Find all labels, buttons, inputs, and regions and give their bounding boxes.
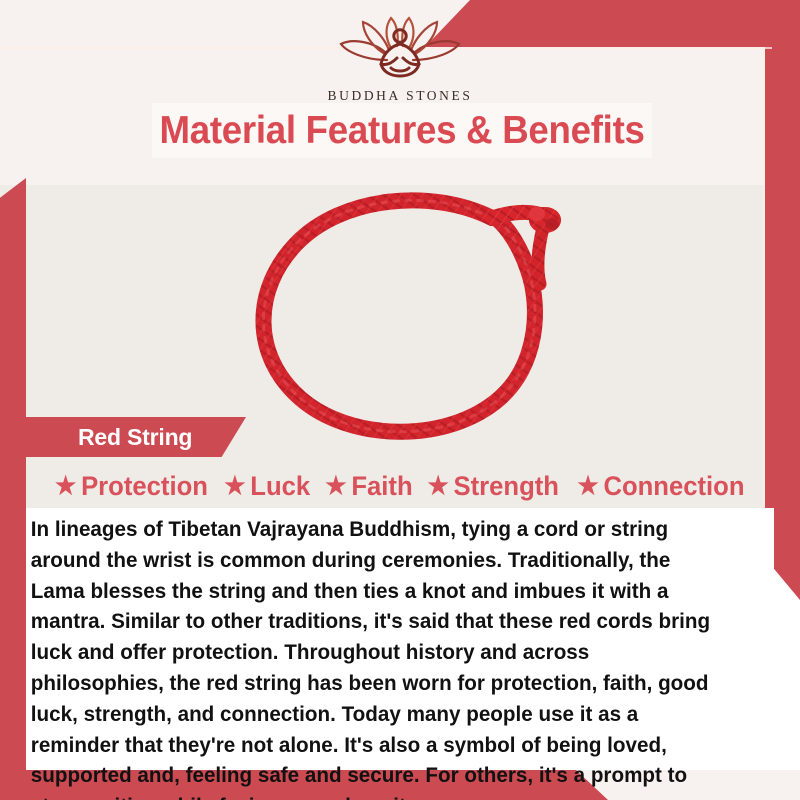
description-text: In lineages of Tibetan Vajrayana Buddhis… <box>26 508 744 800</box>
product-label-banner: Red String <box>24 417 246 457</box>
benefit-item-connection: ★ Connection <box>573 471 750 502</box>
decorative-bar-left <box>0 178 26 508</box>
decorative-bar-left-lower <box>0 508 26 770</box>
brand-name: BUDDHA STONES <box>0 88 800 104</box>
benefit-label: Faith <box>351 471 412 502</box>
product-image <box>200 160 620 460</box>
benefit-label: Luck <box>250 471 310 502</box>
benefit-item-faith: ★ Faith <box>320 471 417 502</box>
benefit-item-luck: ★ Luck <box>220 471 315 502</box>
star-icon: ★ <box>224 474 245 499</box>
star-icon: ★ <box>577 474 598 499</box>
benefit-label: Strength <box>454 471 559 502</box>
lotus-meditation-icon <box>325 14 475 86</box>
red-braided-string-bracelet-illustration <box>200 160 620 460</box>
infographic-card: BUDDHA STONES Material Features & Benefi… <box>0 0 800 800</box>
description-panel: In lineages of Tibetan Vajrayana Buddhis… <box>26 508 774 770</box>
star-icon: ★ <box>428 474 449 499</box>
page-title: Material Features & Benefits <box>159 109 644 153</box>
benefit-label: Connection <box>603 471 744 502</box>
benefit-item-strength: ★ Strength <box>423 471 564 502</box>
benefit-label: Protection <box>81 471 208 502</box>
benefits-list: ★ Protection ★ Luck ★ Faith ★ Strength ★… <box>0 466 800 506</box>
title-banner: Material Features & Benefits <box>152 103 652 158</box>
star-icon: ★ <box>55 474 76 499</box>
benefit-item-protection: ★ Protection <box>50 471 212 502</box>
product-label: Red String <box>78 424 192 451</box>
brand-logo: BUDDHA STONES <box>0 14 800 104</box>
star-icon: ★ <box>325 474 346 499</box>
